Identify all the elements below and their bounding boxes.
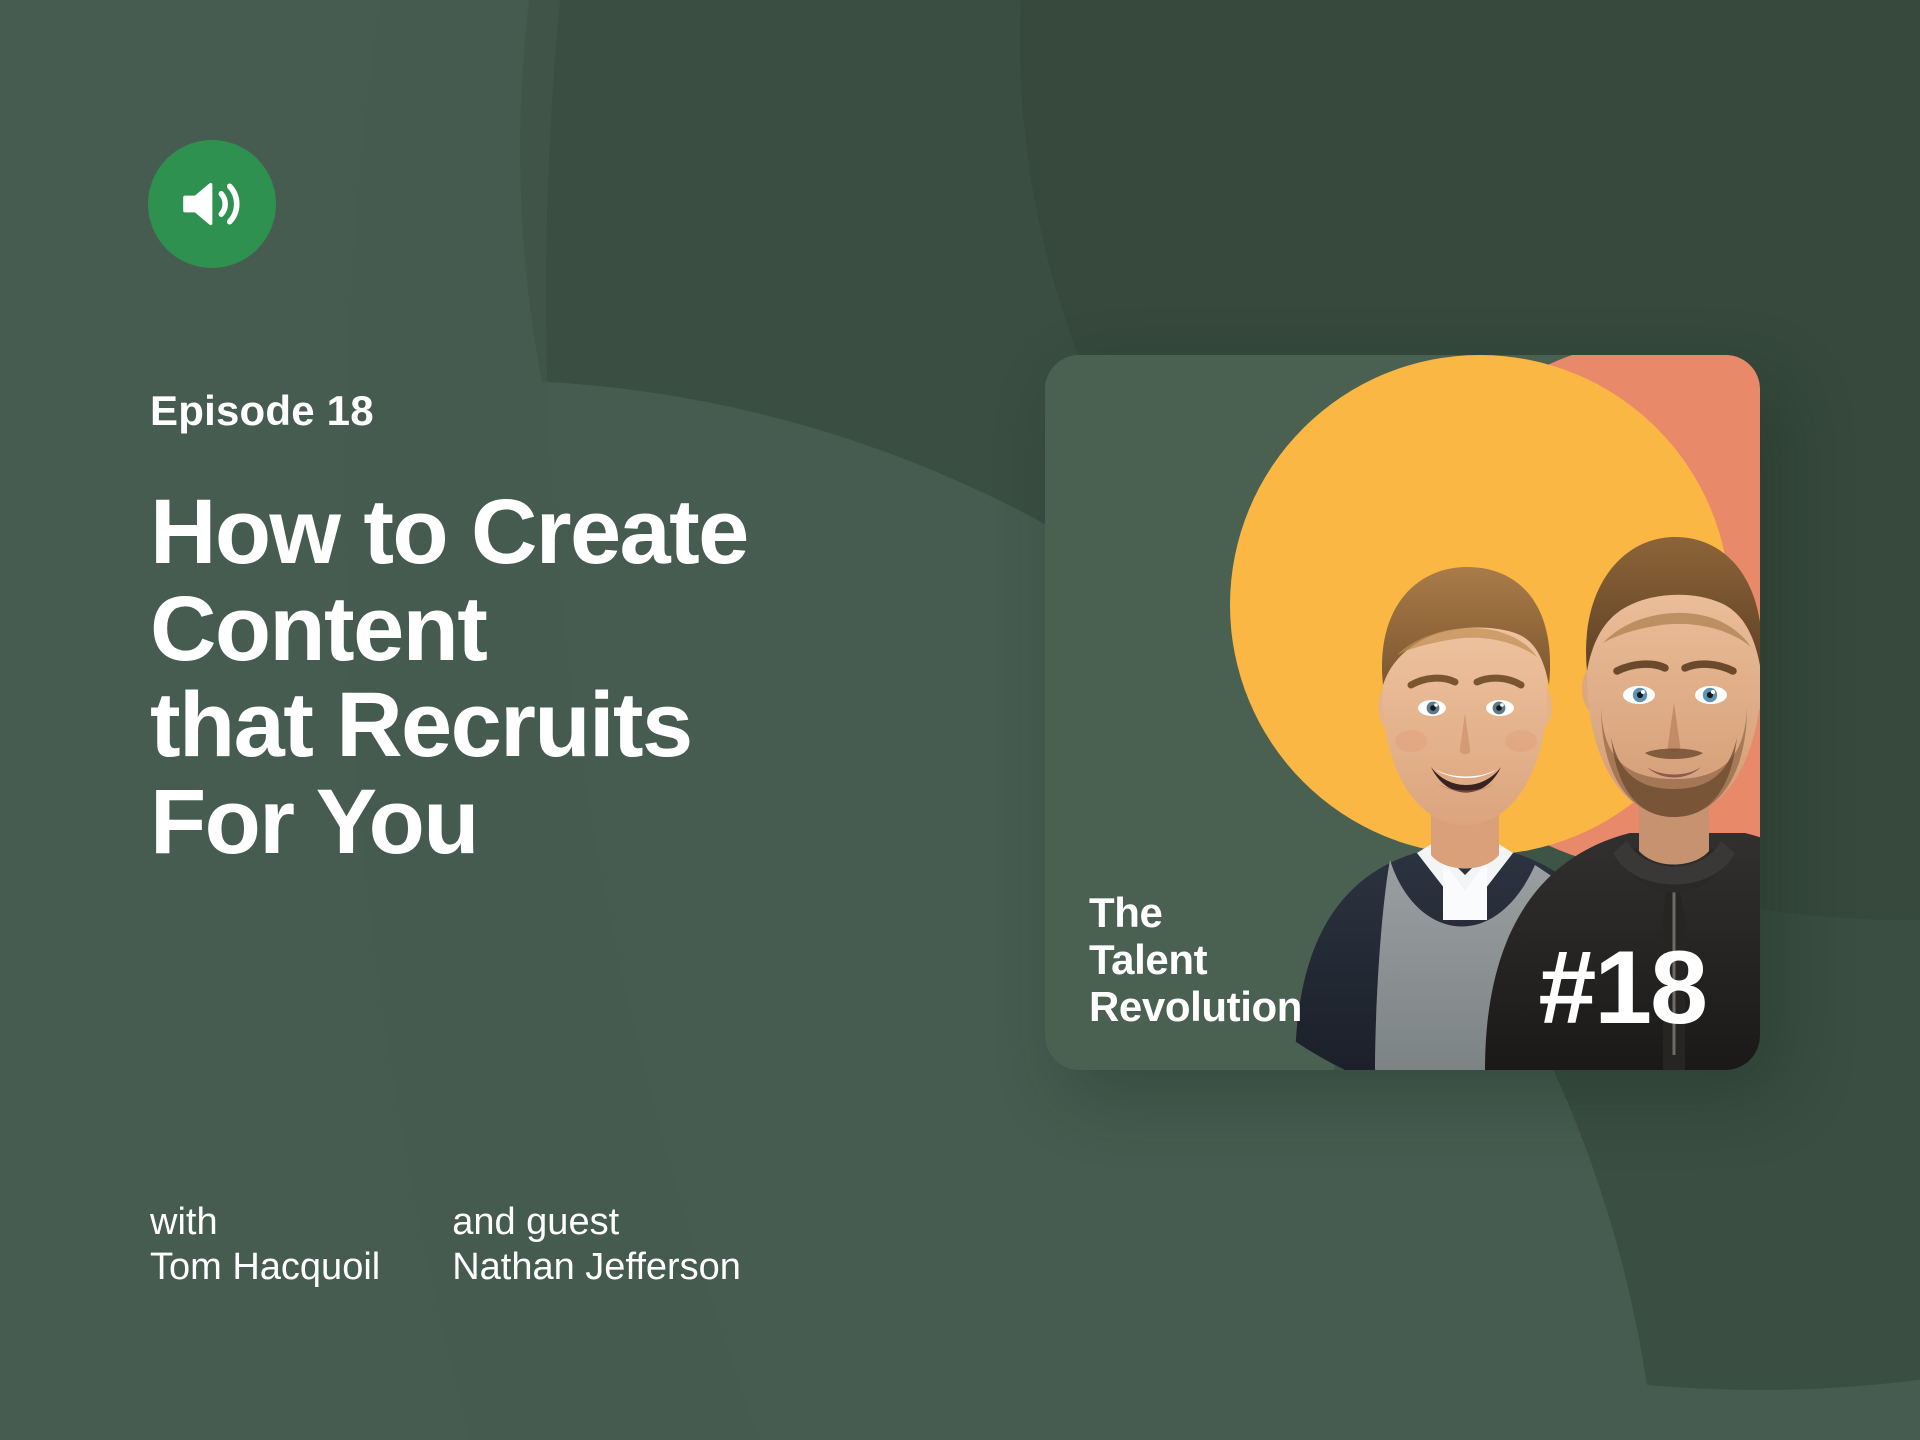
episode-title-line: How to Create [150,484,940,581]
episode-title-line: For You [150,774,940,871]
card-episode-number: #18 [1538,942,1706,1036]
podcast-audio-badge [148,140,276,268]
credits-block: with Tom Hacquoil and guest Nathan Jeffe… [150,1200,741,1290]
show-name-line: Revolution [1089,983,1302,1030]
episode-copy-block: Episode 18 How to Create Content that Re… [150,390,940,870]
episode-title: How to Create Content that Recruits For … [150,484,940,870]
show-name-line: Talent [1089,936,1302,983]
card-text-row: The Talent Revolution #18 [1045,889,1760,1070]
show-name-line: The [1089,889,1302,936]
credit-role-label: with [150,1200,380,1245]
episode-title-line: that Recruits [150,677,940,774]
credit-person-name: Tom Hacquoil [150,1245,380,1290]
episode-label: Episode 18 [150,390,940,432]
credit-guest: and guest Nathan Jefferson [452,1200,741,1290]
credit-host: with Tom Hacquoil [150,1200,380,1290]
speaker-volume-icon [176,168,248,240]
episode-title-line: Content [150,581,940,678]
credit-person-name: Nathan Jefferson [452,1245,741,1290]
credit-role-label: and guest [452,1200,741,1245]
show-name: The Talent Revolution [1089,889,1302,1030]
podcast-artwork-card[interactable]: The Talent Revolution #18 [1045,355,1760,1070]
